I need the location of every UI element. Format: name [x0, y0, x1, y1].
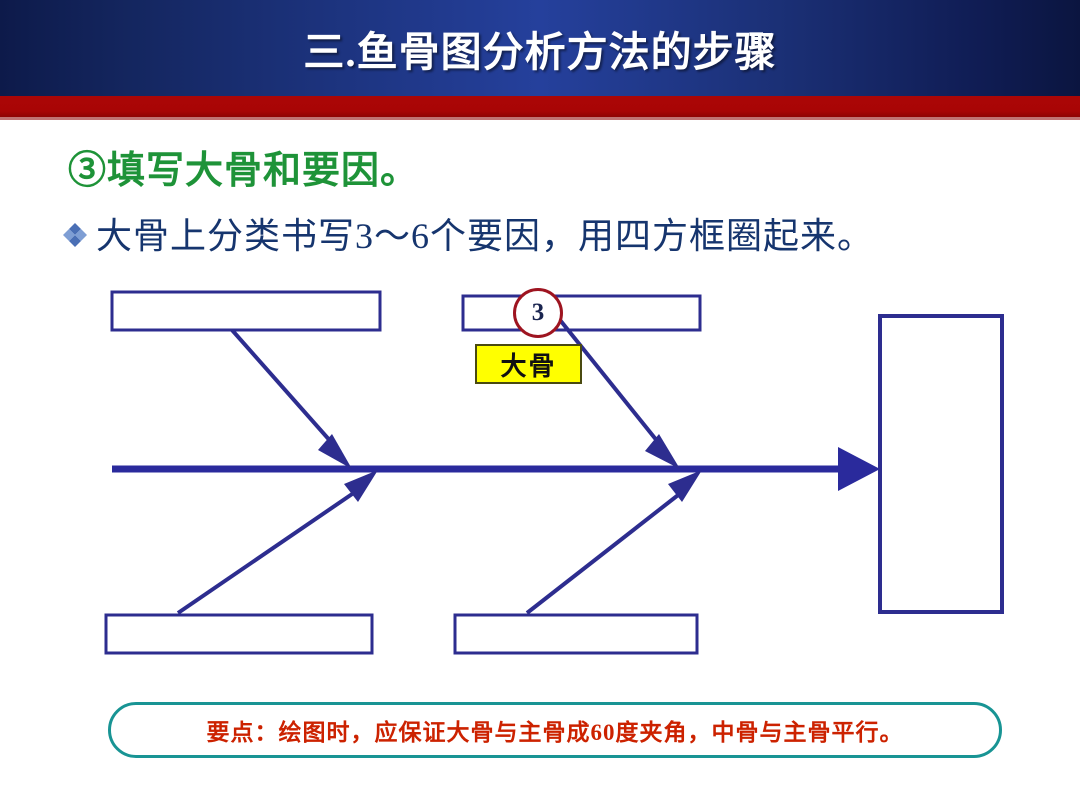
- top-right-bone-box[interactable]: [463, 296, 700, 330]
- callout-label-dagu[interactable]: 大骨: [475, 344, 582, 384]
- note-text: 要点：绘图时，应保证大骨与主骨成60度夹角，中骨与主骨平行。: [207, 713, 904, 747]
- bottom-right-bone-box[interactable]: [455, 615, 697, 653]
- bone-line-upper-left: [232, 330, 340, 452]
- bone-line-upper-right: [560, 320, 666, 452]
- header-red-rule: [0, 96, 1080, 117]
- bone-line-lower-left: [178, 490, 358, 613]
- fish-head-box[interactable]: [880, 316, 1002, 612]
- bone-arrowhead-upper-left: [318, 434, 352, 469]
- top-left-bone-box[interactable]: [112, 292, 380, 330]
- bone-arrowhead-upper-right: [645, 434, 680, 469]
- header-red-rule-shadow: [0, 117, 1080, 120]
- bullet-text: 大骨上分类书写3～6个要因，用四方框圈起来。: [96, 207, 874, 259]
- bone-line-lower-right: [527, 492, 682, 613]
- step-heading: ③填写大骨和要因。: [68, 139, 419, 194]
- page-title: 三.鱼骨图分析方法的步骤: [0, 0, 1080, 96]
- callout-number-circle[interactable]: 3: [513, 288, 563, 338]
- note-box: 要点：绘图时，应保证大骨与主骨成60度夹角，中骨与主骨平行。: [108, 702, 1002, 758]
- bottom-left-bone-box[interactable]: [106, 615, 372, 653]
- bullet-line: 大骨上分类书写3～6个要因，用四方框圈起来。: [62, 207, 874, 259]
- diamond-bullet-icon: [62, 222, 88, 248]
- spine-arrowhead: [838, 447, 880, 491]
